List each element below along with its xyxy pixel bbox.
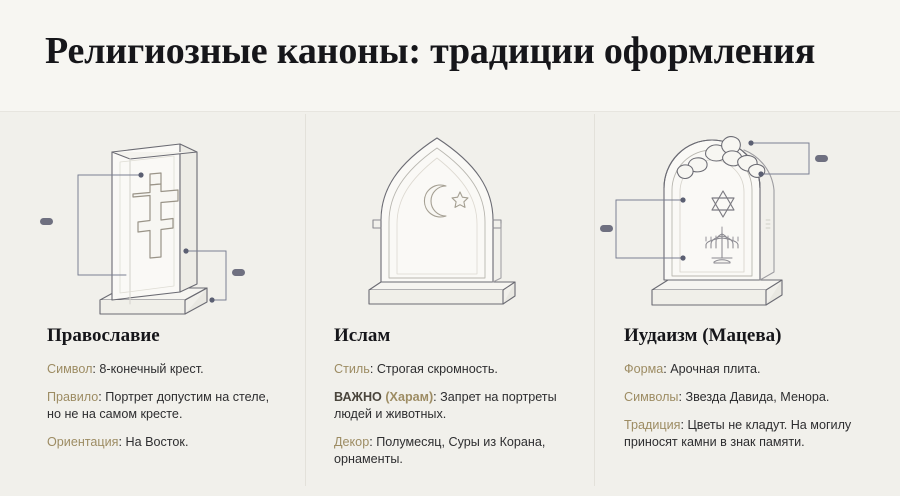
fact-label: Правило [47, 390, 98, 404]
column-heading-judaism: Иудаизм (Мацева) [624, 324, 880, 348]
infographic-page: Религиозные каноны: традиции оформления [0, 0, 900, 496]
annotation-marker-pill [40, 218, 53, 225]
fact-text: 8-конечный крест. [99, 362, 203, 376]
base-plinth [652, 280, 782, 305]
annotation-marker-pill [232, 269, 245, 276]
fact-label-parenthetical: (Харам) [385, 390, 433, 404]
orthodox-stele-illustration [0, 112, 305, 324]
fact-label: Декор [334, 435, 369, 449]
islamic-arch-stone-illustration [305, 112, 594, 324]
fact-row: Символы: Звезда Давида, Менора. [624, 389, 880, 406]
fact-row: Ориентация: На Восток. [47, 434, 283, 451]
column-heading-islam: Ислам [334, 324, 576, 348]
fact-row: Стиль: Строгая скромность. [334, 361, 576, 378]
column-orthodox: Православие Символ: 8-конечный крест. Пр… [0, 112, 305, 496]
fact-label: Традиция [624, 418, 680, 432]
orthodox-text-block: Православие Символ: 8-конечный крест. Пр… [0, 324, 305, 451]
judaism-text-block: Иудаизм (Мацева) Форма: Арочная плита. С… [594, 324, 900, 451]
fact-label: Символы [624, 390, 678, 404]
fact-row: Традиция: Цветы не кладут. На могилу при… [624, 417, 880, 451]
annotation-marker-pill [815, 155, 828, 162]
columns-container: Православие Символ: 8-конечный крест. Пр… [0, 112, 900, 496]
fact-row: Форма: Арочная плита. [624, 361, 880, 378]
fact-label: Ориентация [47, 435, 119, 449]
fact-row: Символ: 8-конечный крест. [47, 361, 283, 378]
fact-row: ВАЖНО (Харам): Запрет на портреты людей … [334, 389, 576, 423]
annotation-marker-pill [600, 225, 613, 232]
fact-row: Декор: Полумесяц, Суры из Корана, орнаме… [334, 434, 576, 468]
base-plinth [369, 282, 515, 304]
column-heading-orthodox: Православие [47, 324, 283, 348]
fact-label: ВАЖНО [334, 390, 382, 404]
header-band: Религиозные каноны: традиции оформления [0, 0, 900, 112]
fact-row: Правило: Портрет допустим на стеле, но н… [47, 389, 283, 423]
matzeva-illustration [594, 112, 900, 324]
page-title: Религиозные каноны: традиции оформления [45, 28, 815, 74]
fact-colon: : [119, 435, 126, 449]
ogee-arch-stele [373, 138, 501, 282]
fact-text: Строгая скромность. [377, 362, 498, 376]
column-judaism: Иудаизм (Мацева) Форма: Арочная плита. С… [594, 112, 900, 496]
fact-text: Звезда Давида, Менора. [685, 390, 829, 404]
fact-text: Арочная плита. [670, 362, 760, 376]
islam-text-block: Ислам Стиль: Строгая скромность. ВАЖНО (… [305, 324, 594, 468]
fact-label: Форма [624, 362, 663, 376]
fact-label: Стиль [334, 362, 370, 376]
fact-colon: : [370, 362, 377, 376]
fact-text: На Восток. [126, 435, 189, 449]
fact-label: Символ [47, 362, 92, 376]
column-islam: Ислам Стиль: Строгая скромность. ВАЖНО (… [305, 112, 594, 496]
